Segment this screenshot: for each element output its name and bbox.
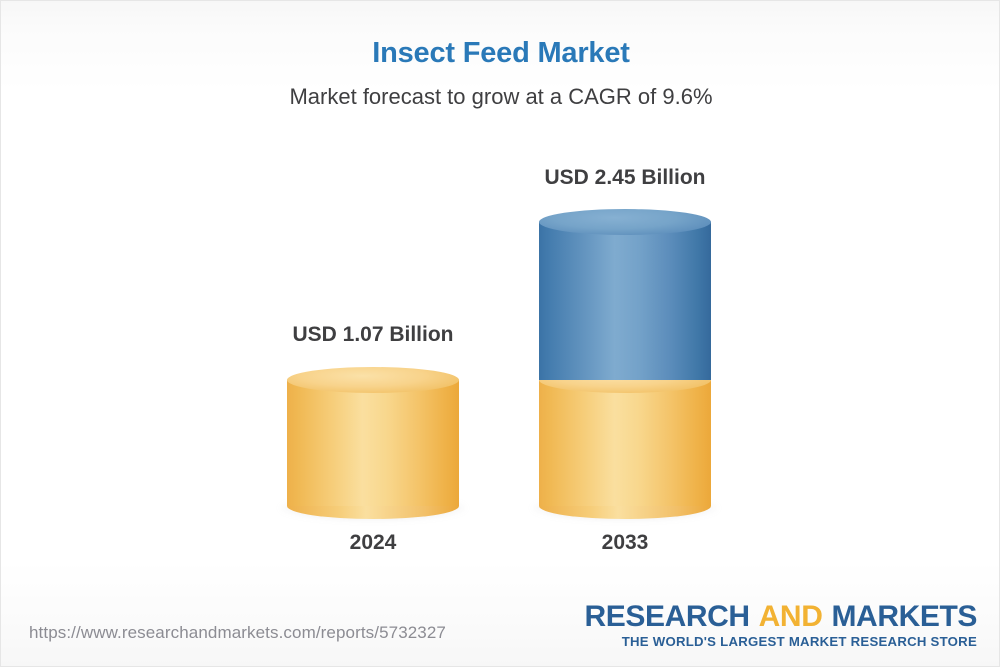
infographic-canvas: Insect Feed Market Market forecast to gr… [0, 0, 1000, 667]
brand-tagline: THE WORLD'S LARGEST MARKET RESEARCH STOR… [585, 634, 977, 649]
brand-word-research: RESEARCH [585, 600, 750, 633]
bar-value-label-2024: USD 1.07 Billion [253, 323, 493, 347]
bar-segment-2024-base [287, 367, 459, 519]
report-url[interactable]: https://www.researchandmarkets.com/repor… [29, 623, 446, 643]
bar-value-label-2033: USD 2.45 Billion [505, 166, 745, 190]
brand-word-markets: MARKETS [831, 600, 977, 633]
cylinder-body [287, 380, 459, 506]
brand-name: RESEARCHANDMARKETS [585, 601, 977, 633]
bar-segment-2033-upper [539, 209, 711, 380]
cylinder-body [539, 222, 711, 380]
bar-category-label-2033: 2033 [505, 531, 745, 555]
brand-word-and: AND [759, 600, 823, 633]
chart-plot-area: USD 1.07 Billion 2024 USD 2.45 Billion [1, 1, 1000, 601]
cylinder-top-ellipse [539, 209, 711, 235]
bar-segment-2033-lower [539, 367, 711, 519]
cylinder-top-ellipse [287, 367, 459, 393]
brand-logo[interactable]: RESEARCHANDMARKETS THE WORLD'S LARGEST M… [585, 601, 977, 649]
bar-category-label-2024: 2024 [253, 531, 493, 555]
cylinder-body [539, 380, 711, 506]
